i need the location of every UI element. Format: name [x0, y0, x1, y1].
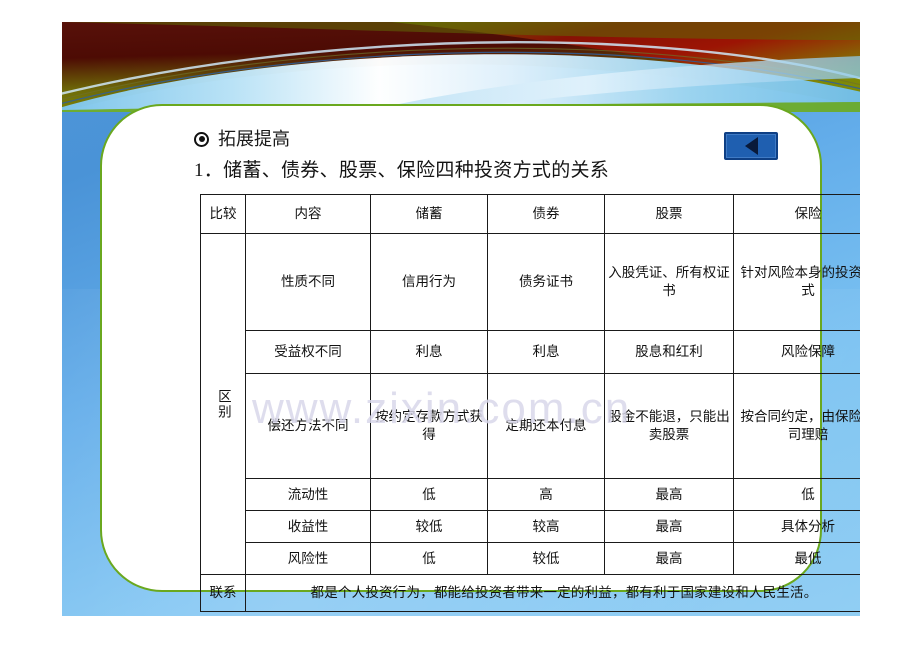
heading-primary-text: 拓展提高: [218, 128, 290, 151]
cell-stock: 最高: [605, 511, 734, 543]
row-item-label: 偿还方法不同: [246, 374, 371, 479]
th-savings: 储蓄: [371, 195, 488, 234]
left-triangle-icon: [745, 137, 758, 155]
heading-secondary-text: 1．储蓄、债券、股票、保险四种投资方式的关系: [194, 155, 609, 182]
th-content: 内容: [246, 195, 371, 234]
cell-stock: 最高: [605, 543, 734, 575]
cell-bond: 债务证书: [488, 234, 605, 331]
content-panel: 拓展提高 1．储蓄、债券、股票、保险四种投资方式的关系 比较 内容 储蓄 债券 …: [100, 104, 822, 592]
table-row-relation: 联系 都是个人投资行为，都能给投资者带来一定的利益，都有利于国家建设和人民生活。: [201, 575, 861, 612]
cell-savings: 低: [371, 543, 488, 575]
cell-stock: 最高: [605, 479, 734, 511]
heading-line-primary: 拓展提高: [194, 128, 609, 151]
cell-insurance: 按合同约定，由保险公司理赔: [734, 374, 861, 479]
table-row: 区别 性质不同 信用行为 债务证书 入股凭证、所有权证书 针对风险本身的投资方式: [201, 234, 861, 331]
relation-text: 都是个人投资行为，都能给投资者带来一定的利益，都有利于国家建设和人民生活。: [246, 575, 861, 612]
cell-insurance: 风险保障: [734, 331, 861, 374]
row-item-label: 性质不同: [246, 234, 371, 331]
cell-savings: 信用行为: [371, 234, 488, 331]
cell-bond: 利息: [488, 331, 605, 374]
group-label-difference: 区别: [201, 234, 246, 575]
circled-dot-icon: [194, 132, 209, 147]
cell-insurance: 最低: [734, 543, 861, 575]
table-row: 流动性 低 高 最高 低: [201, 479, 861, 511]
cell-insurance: 低: [734, 479, 861, 511]
slide-root: 拓展提高 1．储蓄、债券、股票、保险四种投资方式的关系 比较 内容 储蓄 债券 …: [0, 0, 920, 652]
cell-savings: 按约定存款方式获得: [371, 374, 488, 479]
th-compare: 比较: [201, 195, 246, 234]
comparison-table-wrapper: 比较 内容 储蓄 债券 股票 保险 区别 性质不同 信用行为 债务证书: [200, 194, 840, 612]
cell-bond: 较低: [488, 543, 605, 575]
row-item-label: 流动性: [246, 479, 371, 511]
cell-bond: 较高: [488, 511, 605, 543]
table-header-row: 比较 内容 储蓄 债券 股票 保险: [201, 195, 861, 234]
decorative-banner: [62, 22, 860, 112]
slide-canvas: 拓展提高 1．储蓄、债券、股票、保险四种投资方式的关系 比较 内容 储蓄 债券 …: [62, 22, 860, 616]
heading-block: 拓展提高 1．储蓄、债券、股票、保险四种投资方式的关系: [194, 128, 609, 182]
cell-bond: 高: [488, 479, 605, 511]
th-bond: 债券: [488, 195, 605, 234]
th-stock: 股票: [605, 195, 734, 234]
comparison-table: 比较 内容 储蓄 债券 股票 保险 区别 性质不同 信用行为 债务证书: [200, 194, 860, 612]
row-item-label: 风险性: [246, 543, 371, 575]
cell-stock: 股息和红利: [605, 331, 734, 374]
banner-artwork: [62, 22, 860, 112]
cell-savings: 利息: [371, 331, 488, 374]
table-row: 偿还方法不同 按约定存款方式获得 定期还本付息 股金不能退，只能出卖股票 按合同…: [201, 374, 861, 479]
cell-savings: 较低: [371, 511, 488, 543]
cell-bond: 定期还本付息: [488, 374, 605, 479]
cell-stock: 股金不能退，只能出卖股票: [605, 374, 734, 479]
cell-insurance: 具体分析: [734, 511, 861, 543]
relation-label: 联系: [201, 575, 246, 612]
row-item-label: 受益权不同: [246, 331, 371, 374]
th-insurance: 保险: [734, 195, 861, 234]
table-row: 风险性 低 较低 最高 最低: [201, 543, 861, 575]
table-row: 收益性 较低 较高 最高 具体分析: [201, 511, 861, 543]
back-button[interactable]: [724, 132, 778, 160]
table-row: 受益权不同 利息 利息 股息和红利 风险保障: [201, 331, 861, 374]
cell-stock: 入股凭证、所有权证书: [605, 234, 734, 331]
cell-savings: 低: [371, 479, 488, 511]
cell-insurance: 针对风险本身的投资方式: [734, 234, 861, 331]
row-item-label: 收益性: [246, 511, 371, 543]
